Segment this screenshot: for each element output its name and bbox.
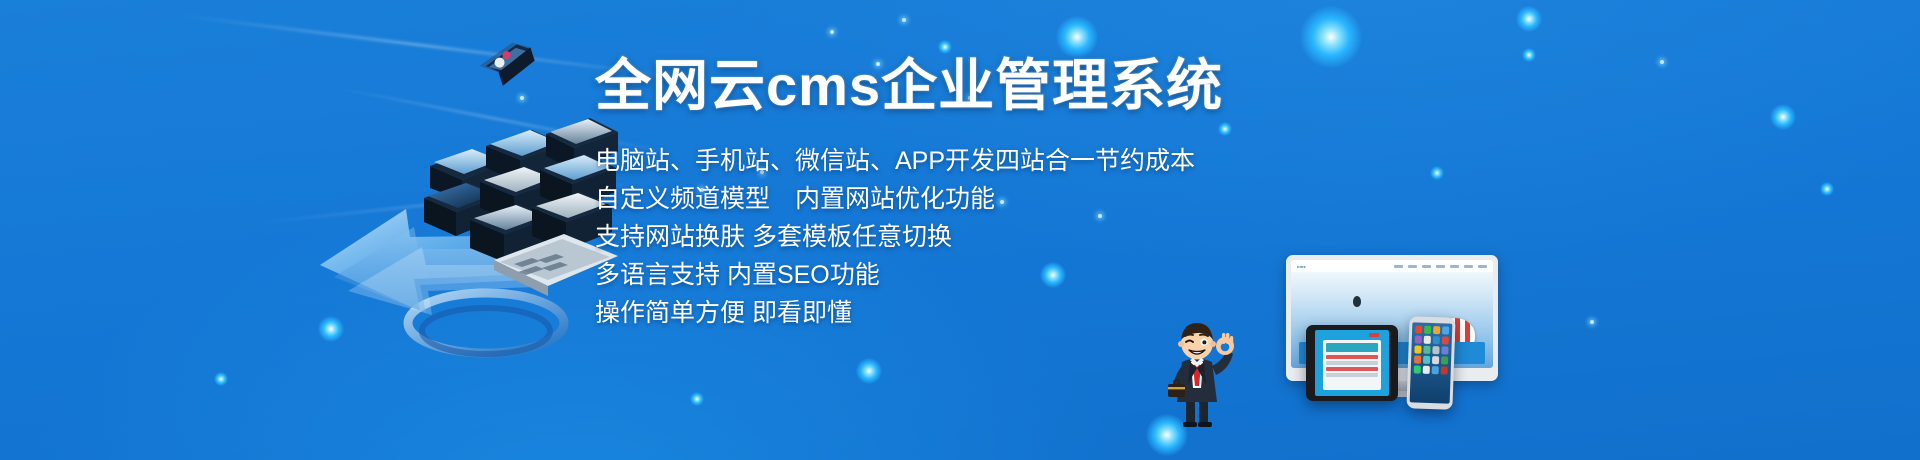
- phone-app-icon: [1414, 345, 1421, 353]
- phone-app-icon: [1414, 355, 1421, 363]
- businessman-ok-gesture-icon: [1160, 312, 1236, 432]
- phone-app-icon: [1441, 356, 1448, 364]
- list-item: 自定义频道模型 内置网站优化功能: [595, 180, 1295, 218]
- list-item: 多语言支持 内置SEO功能: [595, 256, 1295, 294]
- floating-tile-icon: [473, 35, 544, 102]
- phone-app-icon: [1442, 336, 1449, 344]
- page-title: 全网云cms企业管理系统: [595, 56, 1295, 116]
- phone-app-icon: [1415, 325, 1422, 333]
- phone-app-icon: [1432, 366, 1439, 374]
- phone-app-icon: [1423, 356, 1430, 364]
- left-illustration: [330, 45, 620, 375]
- phone-app-icon: [1432, 356, 1439, 364]
- phone-app-icon: [1415, 335, 1422, 343]
- phone-app-icon: [1441, 346, 1448, 354]
- phone-app-icon: [1424, 326, 1431, 334]
- phone-app-icon: [1433, 336, 1440, 344]
- feature-list: 电脑站、手机站、微信站、APP开发四站合一节约成本 自定义频道模型 内置网站优化…: [595, 142, 1295, 332]
- phone-app-icon: [1441, 366, 1448, 374]
- mockup-logo: cms: [1297, 264, 1306, 269]
- banner-copy: 全网云cms企业管理系统 电脑站、手机站、微信站、APP开发四站合一节约成本 自…: [595, 56, 1295, 332]
- tablet-window-row: [1326, 373, 1378, 377]
- tablet-accent-bar: [1369, 333, 1379, 337]
- tablet-window-row: [1326, 355, 1378, 359]
- mockup-nav-item: [1478, 265, 1487, 268]
- phone-app-icon: [1423, 366, 1430, 374]
- mockup-nav-item: [1408, 265, 1417, 268]
- mockup-nav-item: [1394, 265, 1403, 268]
- phone-app-icon: [1423, 346, 1430, 354]
- phone-mockup: [1406, 316, 1455, 410]
- mockup-nav-item: [1464, 265, 1473, 268]
- mockup-nav-item: [1450, 265, 1459, 268]
- small-balloon-icon: [1353, 296, 1361, 307]
- phone-screen: [1410, 322, 1453, 403]
- mockup-nav-item: [1436, 265, 1445, 268]
- tablet-window-bar: [1326, 343, 1378, 352]
- phone-app-icon: [1442, 326, 1449, 334]
- screen-cube-icon: [422, 100, 622, 330]
- phone-app-icon: [1424, 336, 1431, 344]
- mockup-nav-item: [1422, 265, 1431, 268]
- mockup-nav: [1394, 265, 1487, 268]
- list-item: 电脑站、手机站、微信站、APP开发四站合一节约成本: [595, 142, 1295, 180]
- phone-app-icon: [1432, 346, 1439, 354]
- phone-app-icon: [1433, 326, 1440, 334]
- tablet-window: [1323, 340, 1381, 390]
- mockup-site-header: cms: [1291, 260, 1493, 272]
- tablet-screen: [1315, 330, 1389, 396]
- list-item: 支持网站换肤 多套模板任意切换: [595, 218, 1295, 256]
- promo-banner: 全网云cms企业管理系统 电脑站、手机站、微信站、APP开发四站合一节约成本 自…: [0, 0, 1920, 460]
- phone-app-icon: [1414, 365, 1421, 373]
- tablet-window-row: [1326, 361, 1378, 365]
- tablet-mockup: [1306, 325, 1398, 401]
- tablet-window-row: [1326, 367, 1378, 371]
- device-mockups: cms: [1258, 255, 1518, 455]
